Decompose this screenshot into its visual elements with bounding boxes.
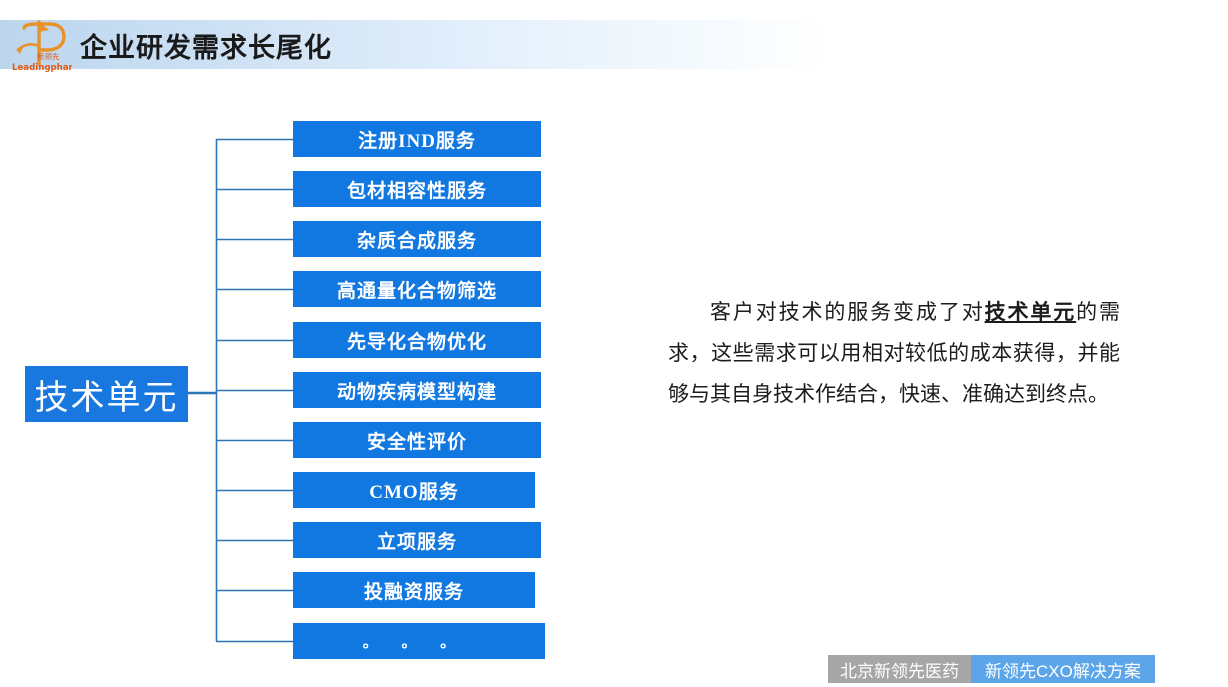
leaf-node-2[interactable]: 杂质合成服务 [293,221,541,257]
svg-text:Leadingpharm: Leadingpharm [12,63,72,73]
page-title: 企业研发需求长尾化 [80,26,332,65]
leaf-node-10[interactable]: 。 。 。 [293,623,545,659]
paragraph-highlight-term: 技术单元 [985,300,1077,324]
leaf-node-0[interactable]: 注册IND服务 [293,121,541,157]
body-paragraph: 客户对技术的服务变成了对技术单元的需求，这些需求可以用相对较低的成本获得，并能够… [668,292,1120,415]
root-node-technology-unit[interactable]: 技术单元 [25,366,188,422]
svg-text:新领先: 新领先 [37,51,60,61]
slide-canvas: 新领先 Leadingpharm 企业研发需求长尾化 技术单元 注册IND服务包… [0,0,1228,687]
footer-company-label: 北京新领先医药 [828,655,971,683]
leaf-node-5[interactable]: 动物疾病模型构建 [293,372,541,408]
footer-solution-label: 新领先CXO解决方案 [971,655,1155,683]
leaf-node-4[interactable]: 先导化合物优化 [293,322,541,358]
leaf-node-6[interactable]: 安全性评价 [293,422,541,458]
leaf-node-7[interactable]: CMO服务 [293,472,535,508]
paragraph-text-part1: 客户对技术的服务变成了对 [710,300,985,324]
leaf-node-9[interactable]: 投融资服务 [293,572,535,608]
footer-bar: 北京新领先医药 新领先CXO解决方案 [828,655,1155,683]
leaf-node-1[interactable]: 包材相容性服务 [293,171,541,207]
leaf-node-3[interactable]: 高通量化合物筛选 [293,271,541,307]
leaf-node-8[interactable]: 立项服务 [293,522,541,558]
company-logo: 新领先 Leadingpharm [6,16,72,74]
